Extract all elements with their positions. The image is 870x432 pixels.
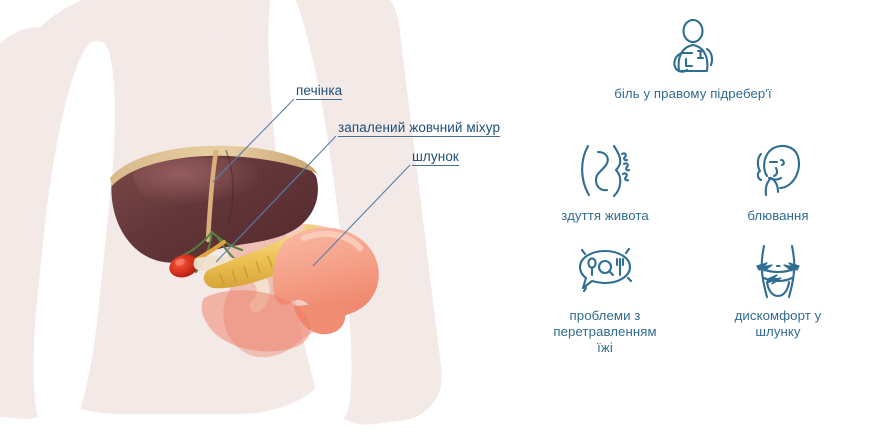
symptom-bloating-line-1: здуття живота (520, 208, 690, 224)
symptom-bloating-label: здуття живота (520, 208, 690, 224)
symptom-list: біль у правому підребер'ї здуття живота (515, 0, 870, 400)
organ-illustration (108, 138, 408, 368)
symptom-digestion-line-1: проблеми з (520, 308, 690, 324)
label-stomach-text: шлунок (412, 149, 459, 166)
symptom-vomiting-line-1: блювання (693, 208, 863, 224)
symptom-pain: біль у правому підребер'ї (608, 18, 778, 102)
symptom-vomiting-label: блювання (693, 208, 863, 224)
symptom-vomiting: блювання (693, 140, 863, 224)
bloated-abdomen-icon (520, 140, 690, 202)
infographic-canvas: печінка запалений жовчний міхур шлунок (0, 0, 870, 400)
label-stomach: шлунок (412, 148, 459, 166)
symptom-digestion-label: проблеми з перетравленням їжі (520, 308, 690, 356)
symptom-discomfort-line-1: дискомфорт у (693, 308, 863, 324)
symptom-bloating: здуття живота (520, 140, 690, 224)
cutlery-speech-bubble-icon (520, 240, 690, 302)
label-liver: печінка (296, 82, 342, 100)
symptom-discomfort-label: дискомфорт у шлунку (693, 308, 863, 340)
label-inflamed-gallbladder: запалений жовчний міхур (338, 119, 500, 137)
symptom-digestion-line-2: перетравленням (520, 324, 690, 340)
symptom-pain-line-1: біль у правому підребер'ї (608, 86, 778, 102)
symptom-discomfort-line-2: шлунку (693, 324, 863, 340)
nauseated-face-icon (693, 140, 863, 202)
label-gallbladder-text: запалений жовчний міхур (338, 120, 500, 137)
symptom-digestion-line-3: їжі (520, 340, 690, 356)
torso-lightning-icon (693, 240, 863, 302)
person-holding-side-icon (608, 18, 778, 80)
symptom-digestion: проблеми з перетравленням їжі (520, 240, 690, 356)
symptom-pain-label: біль у правому підребер'ї (608, 86, 778, 102)
label-liver-text: печінка (296, 83, 342, 100)
symptom-discomfort: дискомфорт у шлунку (693, 240, 863, 340)
